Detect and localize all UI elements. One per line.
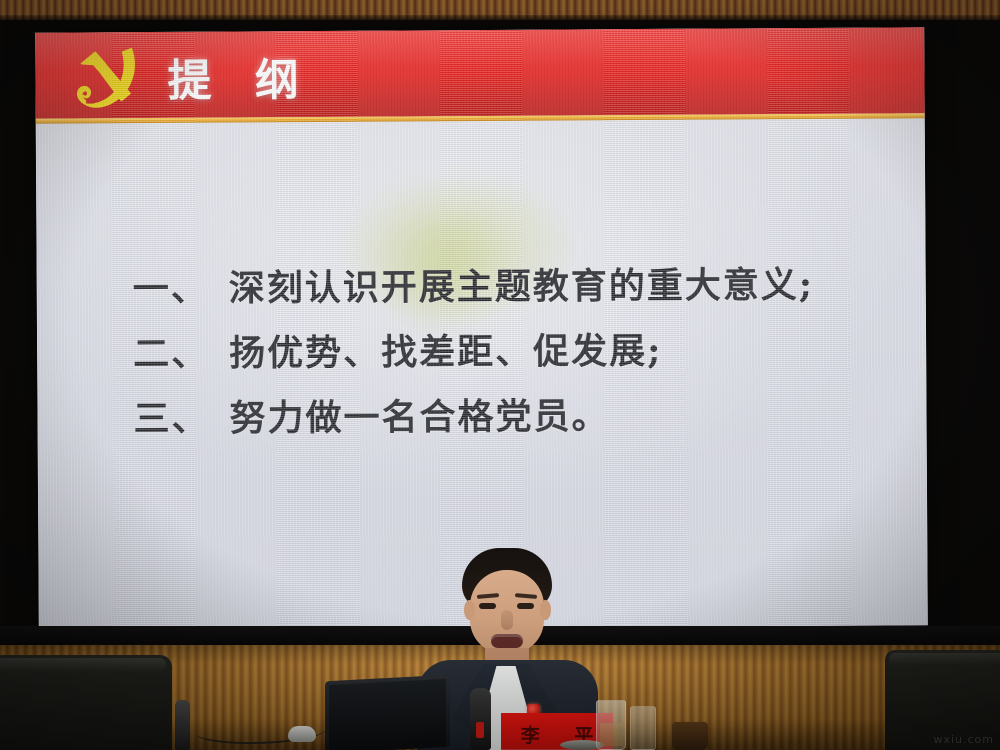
lower-wood-paneling <box>0 645 1000 750</box>
conference-room-scene: 提 纲 一、深刻认识开展主题教育的重大意义; 二、扬优势、找差距、促发展; 三、… <box>0 0 1000 750</box>
outline-item-2: 二、扬优势、找差距、促发展; <box>133 317 893 387</box>
page-title: 提 纲 <box>167 44 313 109</box>
outline-item-1: 一、深刻认识开展主题教育的重大意义; <box>133 252 893 322</box>
outline-item-3-text: 努力做一名合格党员。 <box>229 395 609 439</box>
slide-outline-list: 一、深刻认识开展主题教育的重大意义; 二、扬优势、找差距、促发展; 三、努力做一… <box>133 252 894 452</box>
outline-item-3: 三、努力做一名合格党员。 <box>133 382 893 452</box>
outline-item-2-number: 二、 <box>133 333 209 375</box>
outline-item-1-number: 一、 <box>133 268 209 310</box>
hammer-and-sickle-emblem <box>63 40 152 127</box>
outline-item-1-text: 深刻认识开展主题教育的重大意义; <box>229 264 815 310</box>
outline-item-2-text: 扬优势、找差距、促发展; <box>229 330 663 375</box>
upper-wood-paneling <box>0 0 1000 22</box>
presentation-slide: 提 纲 一、深刻认识开展主题教育的重大意义; 二、扬优势、找差距、促发展; 三、… <box>35 27 928 630</box>
outline-item-3-number: 三、 <box>133 398 209 440</box>
